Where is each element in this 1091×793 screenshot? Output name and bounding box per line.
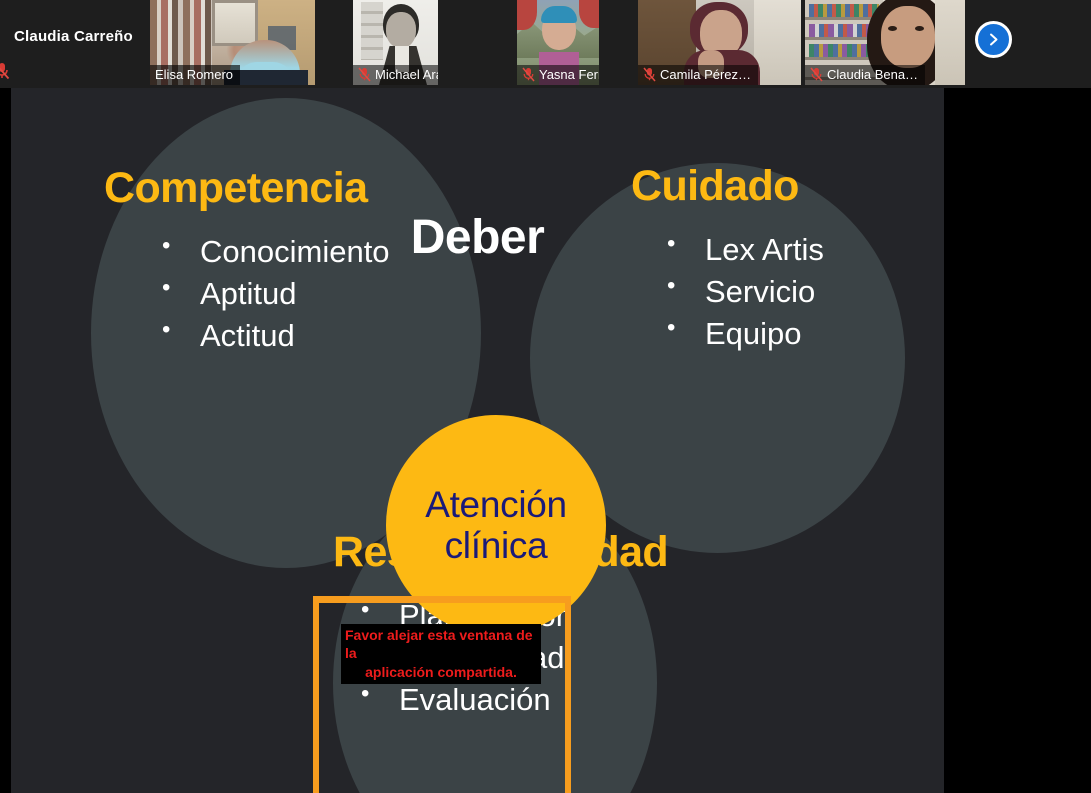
mic-off-icon — [0, 62, 10, 80]
filmstrip-gap — [801, 0, 805, 88]
participant-name: Elisa Romero — [155, 67, 233, 82]
group-heading: Competencia — [104, 164, 390, 213]
chevron-right-icon — [986, 32, 1001, 47]
participant-name: Camila Pérez… — [660, 67, 751, 82]
presentation-slide: Deber Competencia Conocimiento Aptitud A… — [11, 88, 944, 793]
list-item: Conocimiento — [154, 231, 390, 273]
video-tile-claudia-benavides[interactable]: Claudia Bena… — [805, 0, 965, 85]
video-tile-michael-araya[interactable]: Michael Araya — [353, 0, 438, 85]
list-item: Lex Artis — [659, 229, 824, 271]
participant-name-label: Claudia Bena… — [805, 65, 925, 85]
center-circle-atencion-clinica: Atención clínica — [386, 415, 606, 635]
filmstrip-gap — [438, 0, 517, 88]
filmstrip-gap — [599, 0, 638, 88]
center-line-1: Atención — [425, 484, 567, 525]
list-item: Evaluación — [353, 679, 663, 721]
shared-screen-region: Deber Competencia Conocimiento Aptitud A… — [0, 88, 1091, 793]
list-item: Aptitud — [154, 273, 390, 315]
share-warning-line-1: Favor alejar esta ventana de la — [345, 626, 537, 663]
share-warning-tooltip: Favor alejar esta ventana de la aplicaci… — [341, 624, 541, 684]
participant-name: Claudia Bena… — [827, 67, 918, 82]
participant-filmstrip: Claudia Carreño Elisa Romero — [0, 0, 1091, 88]
participant-name-label: Elisa Romero — [150, 65, 240, 85]
list-item: Servicio — [659, 271, 824, 313]
self-participant-label: Claudia Carreño — [14, 28, 133, 45]
participant-name-label: Michael Araya — [353, 65, 438, 85]
mic-off-icon — [643, 67, 656, 82]
list-item: Equipo — [659, 313, 824, 355]
participant-name: Michael Araya — [375, 67, 438, 82]
share-warning-line-2: aplicación compartida. — [345, 663, 537, 681]
center-line-2: clínica — [445, 525, 548, 566]
video-tile-yasna-fernandez[interactable]: Yasna Fernán… — [517, 0, 599, 85]
mic-off-icon — [358, 67, 371, 82]
mic-off-icon — [522, 67, 535, 82]
group-item-list: Conocimiento Aptitud Actitud — [154, 231, 390, 357]
group-competencia: Competencia Conocimiento Aptitud Actitud — [104, 164, 390, 357]
mic-off-icon — [810, 67, 823, 82]
video-tile-elisa-romero[interactable]: Elisa Romero — [150, 0, 315, 85]
next-participants-button[interactable] — [975, 21, 1012, 58]
group-item-list: Lex Artis Servicio Equipo — [659, 229, 824, 355]
video-tile-camila-perez[interactable]: Camila Pérez… — [638, 0, 801, 85]
participant-name-label: Camila Pérez… — [638, 65, 758, 85]
frame-bar-left — [313, 596, 319, 793]
group-heading: Cuidado — [631, 162, 824, 211]
list-item: Actitud — [154, 315, 390, 357]
participant-name-label: Yasna Fernán… — [517, 65, 599, 85]
filmstrip-gap — [315, 0, 353, 88]
group-cuidado: Cuidado Lex Artis Servicio Equipo — [631, 162, 824, 355]
participant-name: Yasna Fernán… — [539, 67, 599, 82]
